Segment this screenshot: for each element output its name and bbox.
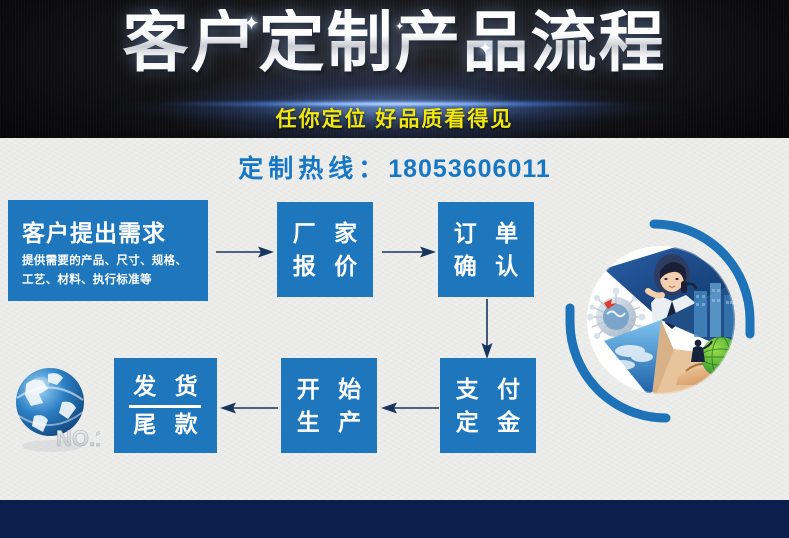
flow-step-factory-quote[interactable]: 厂 家 报 价 [277, 202, 373, 297]
flow-step-ship-balance[interactable]: 发 货 尾 款 [114, 358, 217, 453]
flow-step-pay-deposit[interactable]: 支 付 定 金 [440, 358, 536, 453]
arrow-down-icon [480, 299, 494, 359]
arrow-right-icon [382, 245, 436, 259]
header-banner: 客户定制产品流程 ✦ ✦ ✦ 任你定位 好品质看得见 [0, 0, 789, 138]
promo-banner: 客户定制产品流程 ✦ ✦ ✦ 任你定位 好品质看得见 定制热线：18053606… [0, 0, 789, 538]
flow-step-line1: 支 付 [450, 373, 526, 406]
flow-step-desc-line1: 提供需要的产品、尺寸、规格、 [22, 252, 187, 271]
page-title: 客户定制产品流程 [0, 9, 789, 77]
flow-step-start-production[interactable]: 开 始 生 产 [281, 358, 377, 453]
flow-step-line1: 发 货 [127, 372, 203, 402]
flow-step-order-confirm[interactable]: 订 单 确 认 [438, 202, 534, 297]
fraction-divider [129, 405, 201, 408]
flow-step-title: 客户提出需求 [22, 214, 166, 248]
flow-step-line1: 厂 家 [287, 217, 363, 250]
arrow-left-icon [381, 401, 439, 415]
hotline-label: 定制热线： [238, 155, 388, 183]
flow-step-line2: 确 认 [448, 250, 524, 283]
arrow-left-icon [220, 401, 278, 415]
flow-step-line2: 生 产 [291, 406, 367, 439]
hotline-number: 18053606011 [388, 155, 551, 183]
business-collage-image [586, 245, 736, 395]
footer-band [0, 500, 789, 538]
globe-badge-label: NO.1 [56, 426, 100, 451]
flow-step-desc: 提供需要的产品、尺寸、规格、 工艺、材料、执行标准等 [22, 252, 187, 290]
flow-step-line2: 报 价 [287, 250, 363, 283]
flow-step-line1: 订 单 [448, 217, 524, 250]
hotline: 定制热线：18053606011 [0, 149, 789, 185]
arrow-right-icon [216, 245, 274, 259]
globe-no1-icon: NO.1 [4, 358, 100, 458]
flow-step-line2: 定 金 [450, 406, 526, 439]
flow-step-customer-request[interactable]: 客户提出需求 提供需要的产品、尺寸、规格、 工艺、材料、执行标准等 [8, 200, 208, 301]
flow-step-desc-line2: 工艺、材料、执行标准等 [22, 271, 187, 290]
page-subtitle: 任你定位 好品质看得见 [0, 103, 789, 133]
flow-step-line2: 尾 款 [127, 410, 203, 440]
flow-step-line1: 开 始 [291, 373, 367, 406]
